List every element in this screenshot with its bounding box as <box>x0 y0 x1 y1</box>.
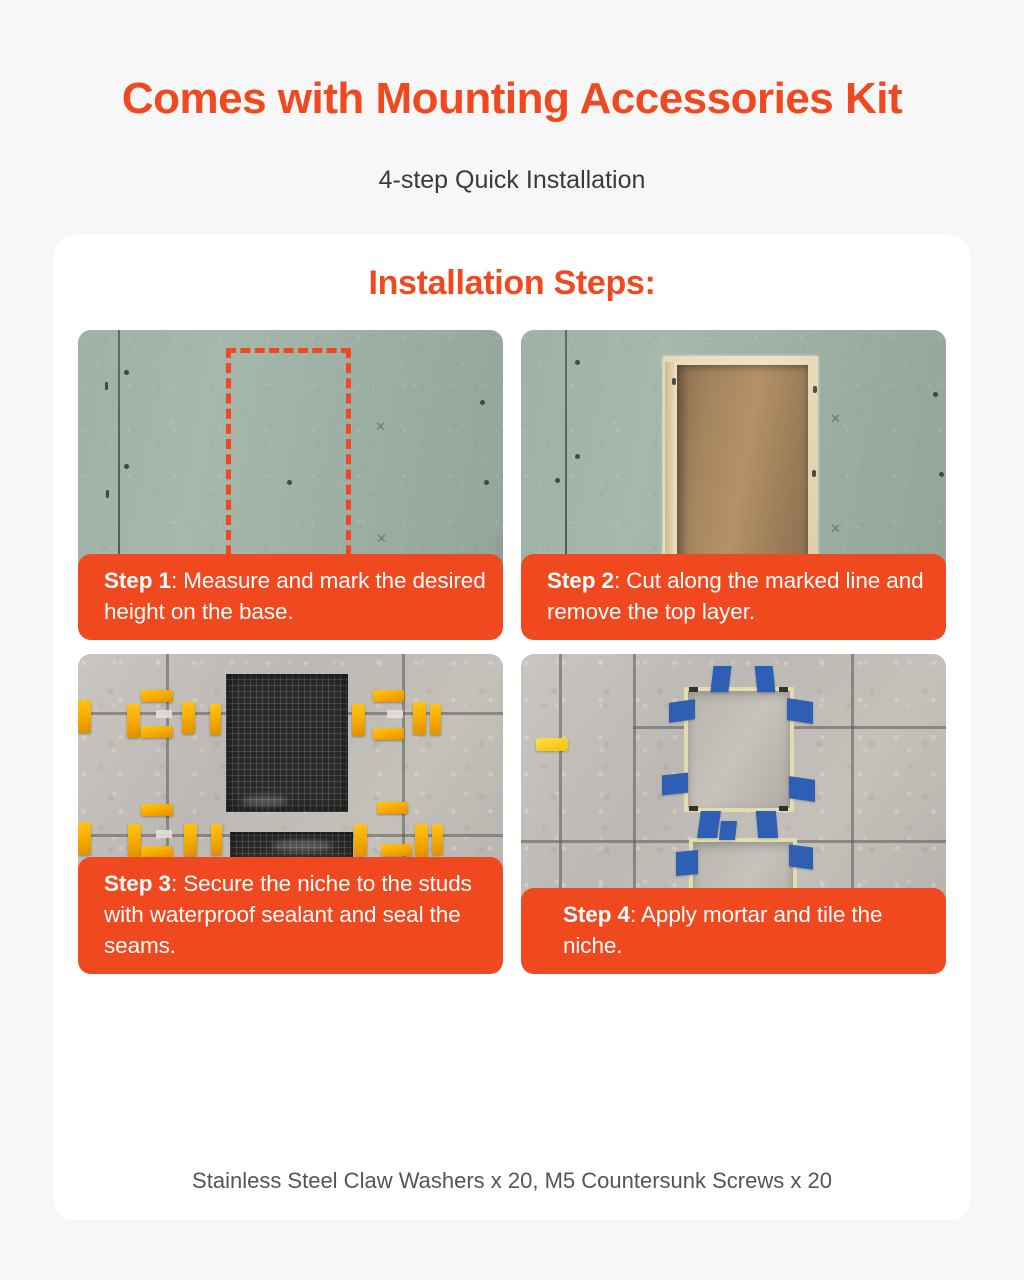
leveling-clip-icon <box>413 702 426 735</box>
painters-tape-icon <box>676 850 698 876</box>
steps-grid: ✕ ✕ Step 1: Measure and mark the desired… <box>78 330 946 974</box>
leveling-clip-icon <box>128 824 141 857</box>
screw-icon <box>575 454 580 459</box>
painters-tape-icon <box>697 811 721 838</box>
leveling-clip-icon <box>210 704 221 735</box>
leveling-clip-icon <box>141 804 173 816</box>
leveling-clip-icon <box>352 704 365 736</box>
leveling-clip-icon <box>141 690 173 702</box>
step-4-label: Step 4 <box>563 902 630 927</box>
leveling-clip-icon <box>127 704 140 738</box>
leveling-wedge-icon <box>156 830 172 838</box>
step-1-separator: : <box>171 568 183 593</box>
screw-icon <box>124 370 129 375</box>
leveling-clip-icon <box>78 822 91 855</box>
page-title: Comes with Mounting Accessories Kit <box>0 74 1024 125</box>
promo-page: Comes with Mounting Accessories Kit 4-st… <box>0 0 1024 1280</box>
painters-tape-icon <box>789 776 815 802</box>
leveling-clip-icon <box>211 824 222 855</box>
step-2-label: Step 2 <box>547 568 614 593</box>
screw-icon <box>484 480 489 485</box>
step-3-label: Step 3 <box>104 871 171 896</box>
step-3-separator: : <box>171 871 183 896</box>
pencil-x-mark-icon: ✕ <box>374 420 387 433</box>
leveling-clip-icon <box>432 824 443 855</box>
painters-tape-icon <box>755 666 776 692</box>
screw-icon <box>813 386 817 393</box>
leveling-clip-icon <box>373 690 404 702</box>
painters-tape-icon <box>719 821 737 840</box>
step-2-caption: Step 2: Cut along the marked line and re… <box>521 554 946 640</box>
gloss-highlight <box>242 796 288 806</box>
painters-tape-icon <box>756 811 778 838</box>
screw-icon <box>480 400 485 405</box>
step-3-caption: Step 3: Secure the niche to the studs wi… <box>78 857 503 974</box>
yellow-tool-icon <box>536 738 568 751</box>
screw-icon <box>106 490 109 498</box>
niche-mesh-box <box>226 674 348 812</box>
screw-icon <box>812 470 816 477</box>
gloss-highlight <box>272 840 332 852</box>
step-tile-2: ✕ ✕ Step 2: Cut along the marked line an… <box>521 330 946 640</box>
leveling-clip-icon <box>381 844 412 856</box>
painters-tape-icon <box>669 699 695 723</box>
step-tile-4: Step 4: Apply mortar and tile the niche. <box>521 654 946 974</box>
painters-tape-icon <box>789 844 813 869</box>
accessories-footnote: Stainless Steel Claw Washers x 20, M5 Co… <box>53 1168 971 1194</box>
leveling-wedge-icon <box>387 710 403 718</box>
step-4-caption: Step 4: Apply mortar and tile the niche. <box>521 888 946 974</box>
leveling-clip-icon <box>373 728 404 740</box>
pencil-x-mark-icon: ✕ <box>375 532 388 545</box>
leveling-wedge-icon <box>156 710 172 718</box>
screw-icon <box>939 472 944 477</box>
step-1-label: Step 1 <box>104 568 171 593</box>
leveling-clip-icon <box>430 704 441 735</box>
leveling-clip-icon <box>184 824 197 856</box>
pencil-x-mark-icon: ✕ <box>829 522 842 535</box>
step-2-separator: : <box>614 568 626 593</box>
screw-icon <box>672 378 676 385</box>
installation-steps-card: Installation Steps: <box>53 235 971 1220</box>
step-tile-1: ✕ ✕ Step 1: Measure and mark the desired… <box>78 330 503 640</box>
leveling-clip-icon <box>182 702 195 734</box>
finished-niche-upper <box>684 687 794 812</box>
screw-icon <box>933 392 938 397</box>
leveling-clip-icon <box>415 824 428 857</box>
pencil-x-mark-icon: ✕ <box>829 412 842 425</box>
screw-icon <box>555 478 560 483</box>
screw-icon <box>105 382 108 390</box>
painters-tape-icon <box>662 773 688 796</box>
card-title: Installation Steps: <box>53 264 971 303</box>
leveling-clip-icon <box>354 824 367 856</box>
corner-bracket-icon <box>779 687 788 692</box>
step-tile-3: Step 3: Secure the niche to the studs wi… <box>78 654 503 974</box>
screw-icon <box>575 360 580 365</box>
corner-bracket-icon <box>689 806 698 811</box>
corner-bracket-icon <box>689 687 698 692</box>
screw-icon <box>124 464 129 469</box>
corner-bracket-icon <box>779 806 788 811</box>
painters-tape-icon <box>787 698 813 724</box>
step-1-caption: Step 1: Measure and mark the desired hei… <box>78 554 503 640</box>
leveling-clip-icon <box>141 726 173 738</box>
leveling-clip-icon <box>78 700 91 733</box>
page-subtitle: 4-step Quick Installation <box>0 164 1024 197</box>
painters-tape-icon <box>710 666 731 692</box>
leveling-clip-icon <box>377 802 408 814</box>
step-4-separator: : <box>630 902 641 927</box>
